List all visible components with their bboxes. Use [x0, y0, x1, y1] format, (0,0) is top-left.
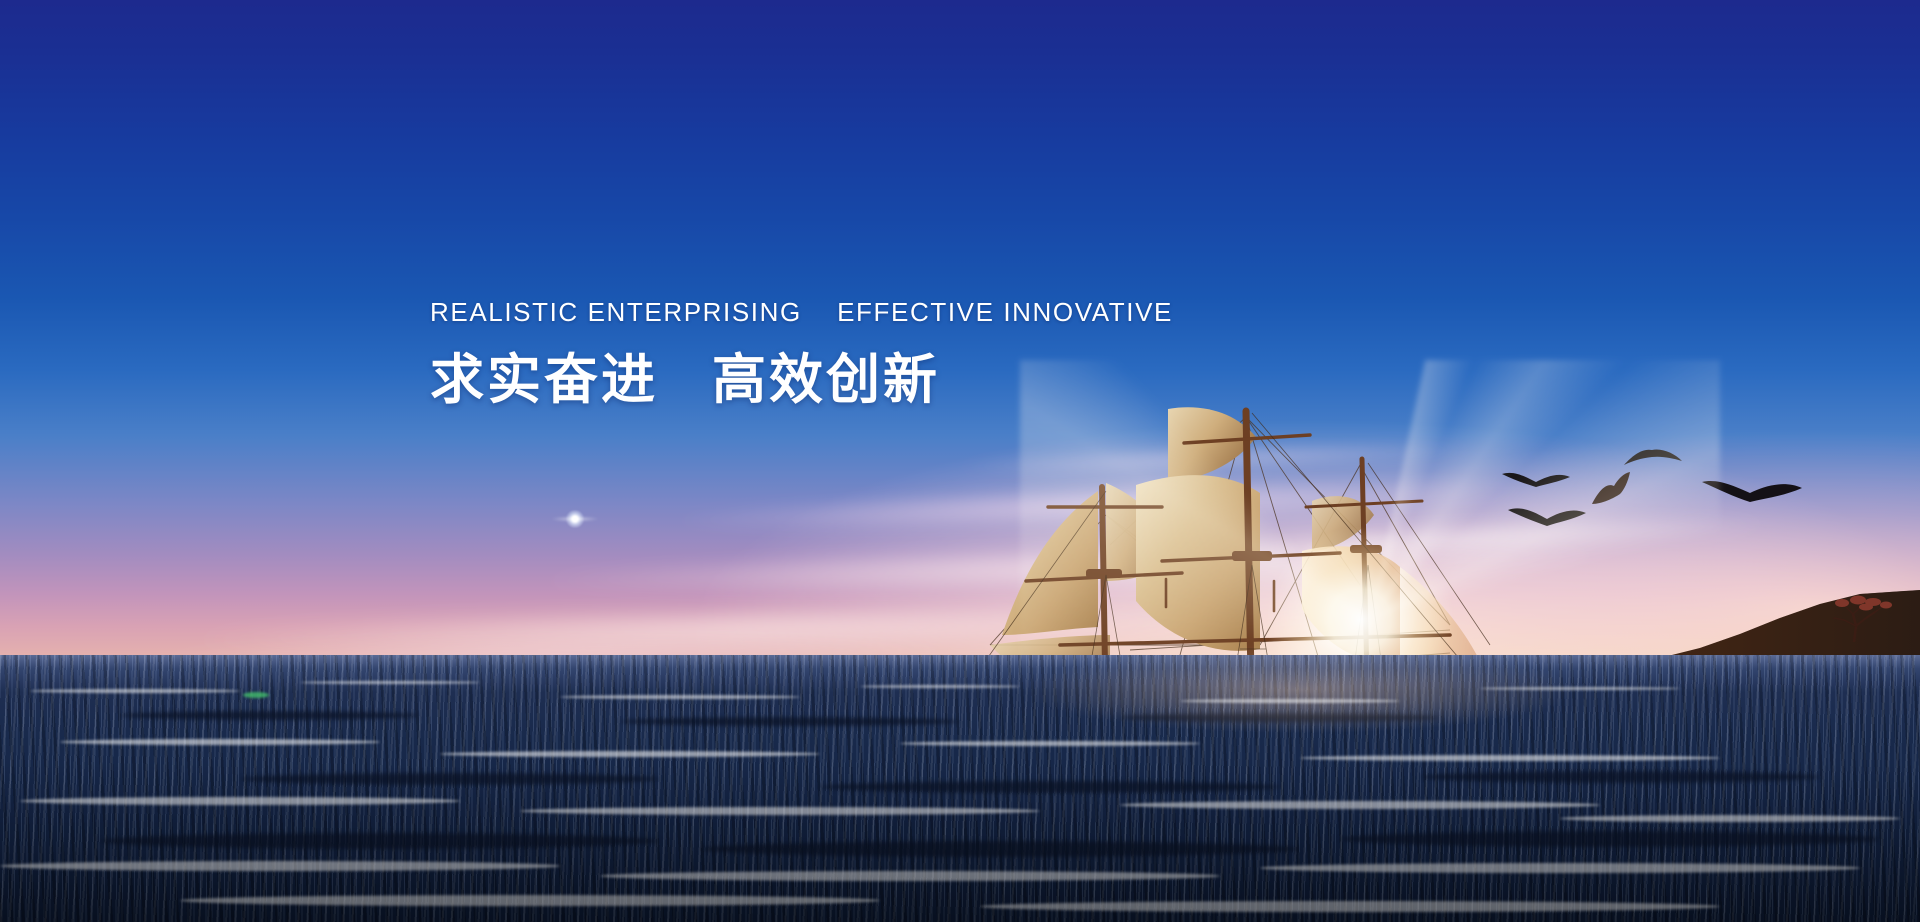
headline-chinese: 求实奋进 高效创新 — [430, 349, 1190, 411]
hero-banner: REALISTIC ENTERPRISING EFFECTIVE INNOVAT… — [0, 0, 1920, 922]
headline-english: REALISTIC ENTERPRISING EFFECTIVE INNOVAT… — [430, 295, 1190, 329]
bright-star-icon — [566, 510, 584, 528]
bird-icon — [1500, 468, 1572, 498]
bird-icon — [1700, 476, 1804, 512]
bird-icon — [1622, 445, 1684, 471]
ocean-waves — [0, 655, 1920, 922]
ocean-vignette — [0, 655, 1920, 922]
bird-icon — [1588, 470, 1650, 510]
bird-flock — [1500, 440, 1820, 550]
lone-tree-icon — [1820, 592, 1900, 642]
headline-block: REALISTIC ENTERPRISING EFFECTIVE INNOVAT… — [430, 295, 1190, 411]
green-fleck — [243, 692, 269, 698]
bird-icon — [1506, 502, 1588, 536]
